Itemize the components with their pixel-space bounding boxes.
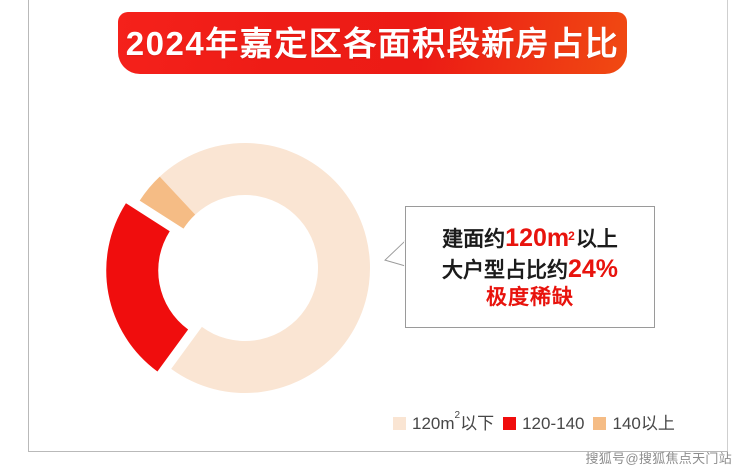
legend-item-2[interactable]: 140以上 <box>593 415 674 432</box>
legend-item-0[interactable]: 120m2以下 <box>393 415 494 432</box>
callout-line1-prefix: 建面约 <box>442 228 505 253</box>
callout-line1-superscript: 2 <box>568 229 575 243</box>
callout-line1-suffix: 以上 <box>576 228 618 253</box>
callout-line-3: 极度稀缺 <box>486 286 574 311</box>
legend-swatch-icon <box>503 417 516 430</box>
legend-item-1[interactable]: 120-140 <box>503 415 584 432</box>
donut-segment-0[interactable] <box>160 143 370 393</box>
callout-text-block: 建面约120m2以上 大户型占比约24% 极度稀缺 <box>405 206 655 328</box>
callout-line2-value: 24% <box>568 255 618 285</box>
donut-segment-1[interactable] <box>106 203 188 371</box>
page-title: 2024年嘉定区各面积段新房占比 <box>126 27 619 60</box>
legend-item-label: 140以上 <box>612 415 674 432</box>
legend-item-label: 120-140 <box>522 415 584 432</box>
watermark-text: 搜狐号@搜狐焦点天门站 <box>586 448 733 467</box>
callout-line-1: 建面约120m2以上 <box>442 224 618 254</box>
legend-swatch-icon <box>593 417 606 430</box>
legend-item-label: 120m2以下 <box>412 415 494 432</box>
callout-line1-value: 120m <box>505 224 569 254</box>
donut-chart-svg <box>95 118 425 418</box>
callout-pointer-icon <box>385 241 406 285</box>
title-banner: 2024年嘉定区各面积段新房占比 <box>118 12 627 74</box>
callout-annotation: 建面约120m2以上 大户型占比约24% 极度稀缺 <box>405 206 655 328</box>
legend-swatch-icon <box>393 417 406 430</box>
infographic-canvas: 2024年嘉定区各面积段新房占比 建面约120m2以上 大户型占比约24% 极度… <box>0 0 740 471</box>
donut-chart <box>95 118 425 418</box>
chart-legend: 120m2以下120-140140以上 <box>393 411 675 435</box>
callout-line2-prefix: 大户型占比约 <box>442 259 568 284</box>
callout-line-2: 大户型占比约24% <box>442 255 618 285</box>
